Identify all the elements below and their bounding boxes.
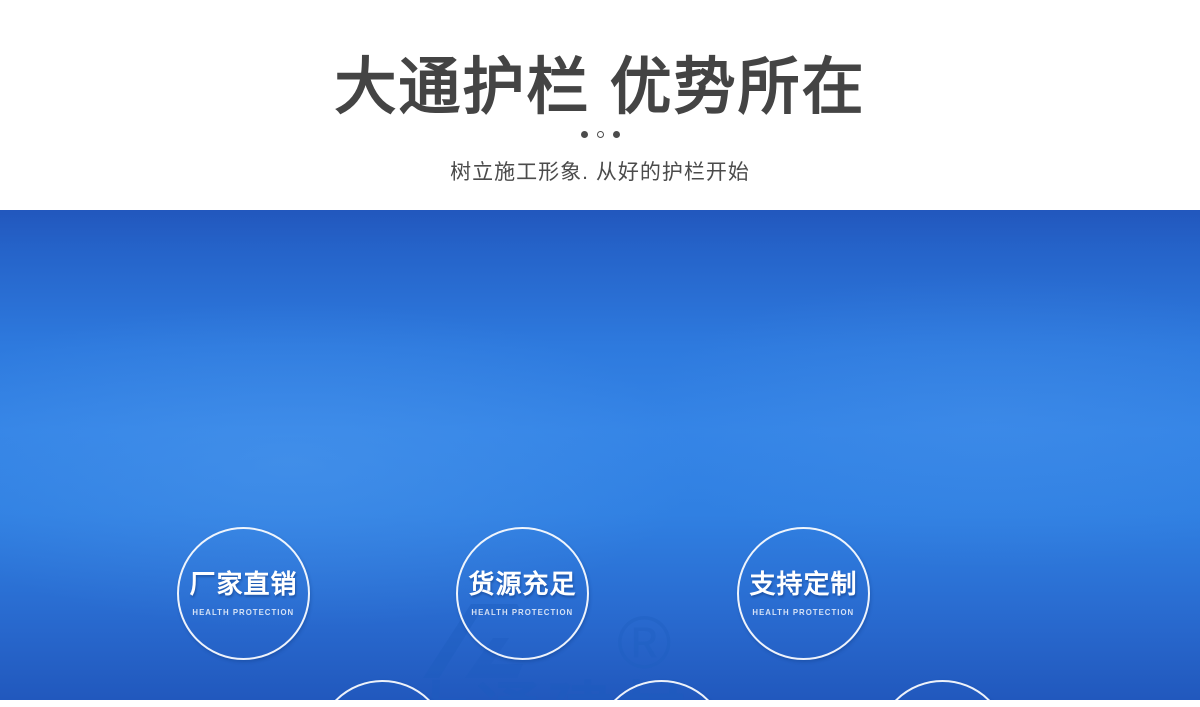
feature-subtitle: HEALTH PROTECTION <box>753 607 855 617</box>
feature-circle-4[interactable]: 品质保障 HEALTH PROTECTION <box>316 680 449 700</box>
page-subtitle: 树立施工形象. 从好的护栏开始 <box>0 156 1200 186</box>
feature-circle-5[interactable]: 款式多样 HEALTH PROTECTION <box>595 680 728 700</box>
feature-title: 支持定制 <box>749 571 857 597</box>
registered-trademark-symbol: ® <box>617 606 672 680</box>
promo-banner: 大通护栏 优势所在 树立施工形象. 从好的护栏开始 ® 大通建材 DATONG … <box>0 0 1200 707</box>
feature-title: 厂家直销 <box>189 571 297 597</box>
panel-glow-left <box>0 300 700 630</box>
feature-panel: ® 大通建材 DATONG CONSTRUCTION MATERIALS 厂家直… <box>0 210 1200 700</box>
feature-circle-1[interactable]: 厂家直销 HEALTH PROTECTION <box>177 527 310 660</box>
dot-separator <box>0 131 1200 138</box>
feature-circle-2[interactable]: 货源充足 HEALTH PROTECTION <box>456 527 589 660</box>
feature-subtitle: HEALTH PROTECTION <box>472 607 574 617</box>
header-section: 大通护栏 优势所在 树立施工形象. 从好的护栏开始 <box>0 0 1200 210</box>
feature-circle-3[interactable]: 支持定制 HEALTH PROTECTION <box>737 527 870 660</box>
page-title: 大通护栏 优势所在 <box>0 55 1200 120</box>
separator-dot-3 <box>613 131 620 138</box>
feature-subtitle: HEALTH PROTECTION <box>193 607 295 617</box>
separator-dot-2 <box>597 131 604 138</box>
panel-glow-right <box>640 270 1200 570</box>
feature-title: 货源充足 <box>468 571 576 597</box>
separator-dot-1 <box>581 131 588 138</box>
feature-circle-6[interactable]: 烤漆工艺 HEALTH PROTECTION <box>876 680 1009 700</box>
